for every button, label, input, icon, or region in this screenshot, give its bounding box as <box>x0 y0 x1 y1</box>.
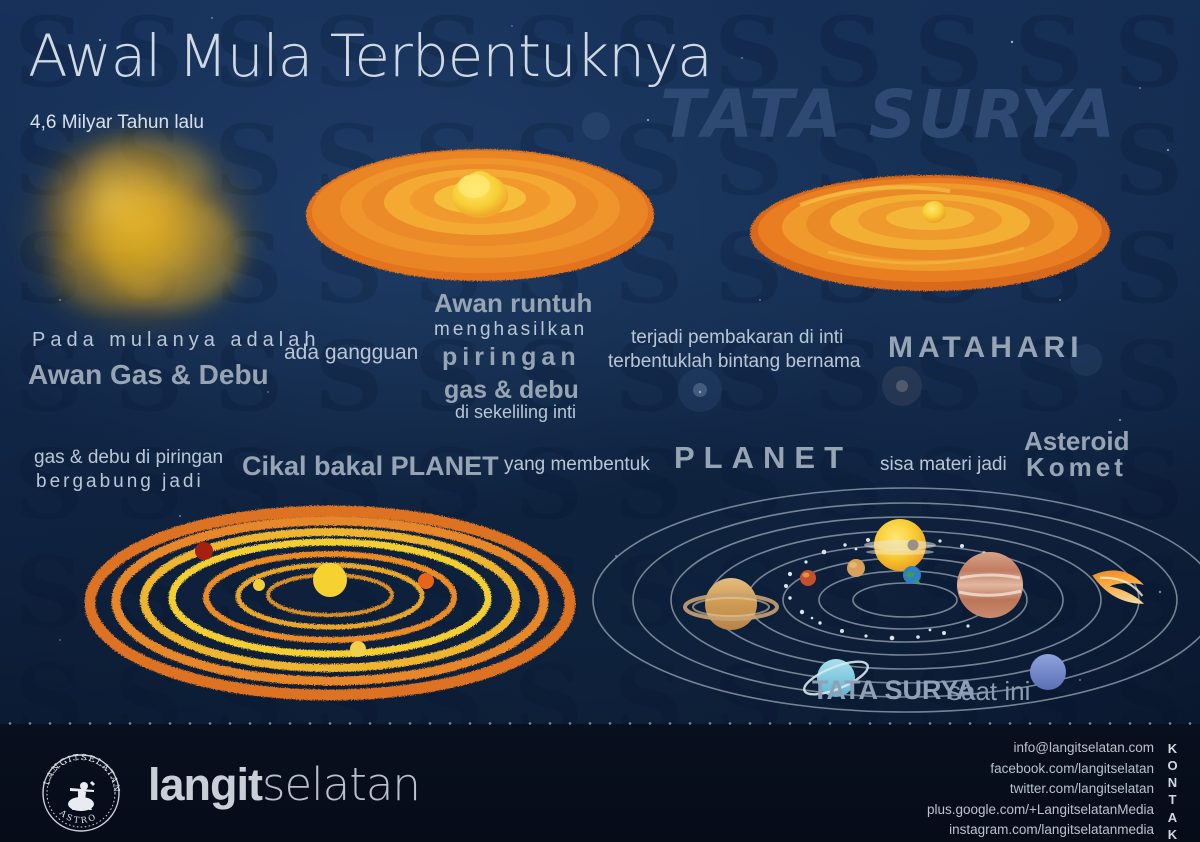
stage-planets-caption: yang membentuk <box>504 455 650 475</box>
contact-googleplus[interactable]: plus.google.com/+LangitselatanMedia <box>927 800 1154 821</box>
brand-light: selatan <box>262 758 420 811</box>
mercury <box>908 540 919 551</box>
kontak-letter-a: A <box>1164 809 1182 826</box>
contact-instagram[interactable]: instagram.com/langitselatanmedia <box>927 820 1154 841</box>
stage-planetesimal-title: Cikal bakal PLANET <box>242 452 499 480</box>
stage-star-line1: terjadi pembakaran di inti <box>631 328 843 348</box>
gas-dust-cloud-illustration <box>22 124 258 332</box>
langitselatan-logo-icon: LANGITSELATAN ASTRO <box>36 748 126 838</box>
stage-disturbance-caption: ada gangguan <box>284 342 418 364</box>
young-planetary-system-illustration <box>90 511 570 695</box>
brand-bold: langit <box>148 759 262 810</box>
stage-collapse-line2: menghasilkan <box>434 320 587 340</box>
kontak-letter-k2: K <box>1164 826 1182 842</box>
star-formation-disk-illustration <box>750 175 1110 291</box>
title-accent-tata-surya: TATA SURYA <box>660 80 1117 149</box>
kontak-letter-o: O <box>1164 757 1182 774</box>
comet <box>1088 563 1152 607</box>
stage-star-title-matahari: MATAHARI <box>888 332 1084 364</box>
neptune <box>1030 654 1066 690</box>
stage-collapse-line3: piringan <box>442 344 581 370</box>
stage-cloud-caption: Pada mulanya adalah <box>32 330 320 351</box>
stage-collapse-line5: di sekeliling inti <box>455 403 576 422</box>
kontak-letter-k: K <box>1164 740 1182 757</box>
kontak-vertical-label: K O N T A K <box>1164 740 1182 842</box>
kontak-letter-t: T <box>1164 791 1182 808</box>
stage-leftover-caption: sisa materi jadi <box>880 455 1007 475</box>
stage-cloud-title: Awan Gas & Debu <box>28 360 269 389</box>
contact-email[interactable]: info@langitselatan.com <box>927 738 1154 759</box>
page-subtitle: 4,6 Milyar Tahun lalu <box>30 113 204 133</box>
stage-planets-title: PLANET <box>674 442 852 475</box>
mars <box>800 570 816 586</box>
stage-star-line2: terbentuklah bintang bernama <box>608 352 860 372</box>
protoplanetary-disk-illustration <box>306 149 654 281</box>
venus <box>847 559 865 577</box>
infographic-poster: S <box>0 0 1200 842</box>
brand-wordmark: langitselatan <box>148 758 420 811</box>
stage-leftover-komet: Komet <box>1026 454 1127 481</box>
jupiter <box>957 552 1023 618</box>
diagram-label-saat-ini: saat ini <box>948 678 1030 705</box>
saturn <box>705 578 757 630</box>
footer-divider <box>0 722 1200 725</box>
stage-collapse-line4: gas & debu <box>444 377 579 403</box>
stage-collapse-line1: Awan runtuh <box>434 290 592 317</box>
stage-planetesimal-line1: gas & debu di piringan <box>34 448 223 468</box>
kontak-letter-n: N <box>1164 774 1182 791</box>
stage-planetesimal-line2: bergabung jadi <box>36 472 204 492</box>
contact-twitter[interactable]: twitter.com/langitselatan <box>927 779 1154 800</box>
contact-facebook[interactable]: facebook.com/langitselatan <box>927 759 1154 780</box>
page-title: Awal Mula Terbentuknya <box>28 26 712 87</box>
contact-list: info@langitselatan.com facebook.com/lang… <box>927 738 1154 841</box>
